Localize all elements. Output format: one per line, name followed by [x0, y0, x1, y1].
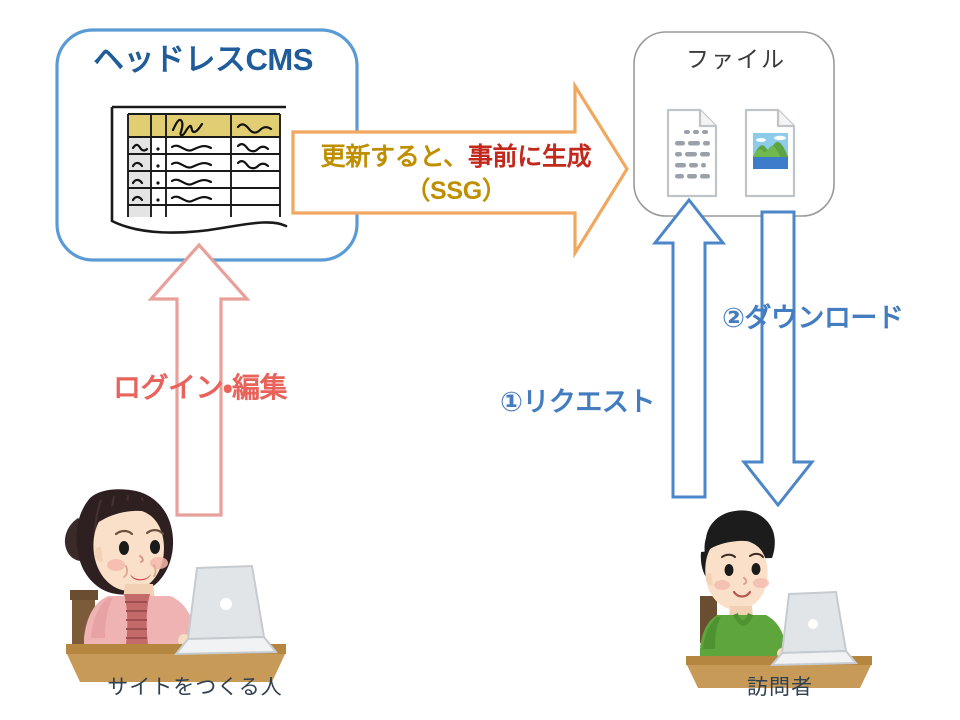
download-arrow	[744, 212, 812, 505]
ssg-label-line2: （SSG）	[405, 177, 506, 205]
text-file-icon	[668, 110, 716, 196]
caption-visitor: 訪問者	[665, 676, 895, 701]
ssg-label-part1: 更新すると、	[321, 143, 468, 171]
login-arrow-label: ログイン・編集	[60, 371, 340, 404]
cms-panel-title: ヘッドレスCMS	[78, 42, 328, 79]
man-at-laptop-illustration	[686, 510, 872, 688]
woman-at-laptop-illustration	[65, 489, 286, 682]
download-arrow-label: ②ダウンロード	[722, 303, 960, 335]
image-file-icon	[746, 110, 794, 196]
spreadsheet-icon	[112, 107, 286, 233]
diagram-canvas: ヘッドレスCMS ファイル 更新すると、事前に生成（SSG） ログイン・編集 ①…	[0, 0, 960, 720]
diagram-vector-layer	[0, 0, 960, 720]
request-arrow-label: ①リクエスト	[500, 387, 740, 419]
file-panel-title: ファイル	[636, 46, 836, 73]
request-arrow	[655, 200, 723, 497]
ssg-label-part2: 事前に生成	[468, 143, 592, 171]
ssg-arrow-label: 更新すると、事前に生成（SSG）	[300, 140, 612, 208]
caption-site-creator: サイトをつくる人	[30, 676, 360, 701]
